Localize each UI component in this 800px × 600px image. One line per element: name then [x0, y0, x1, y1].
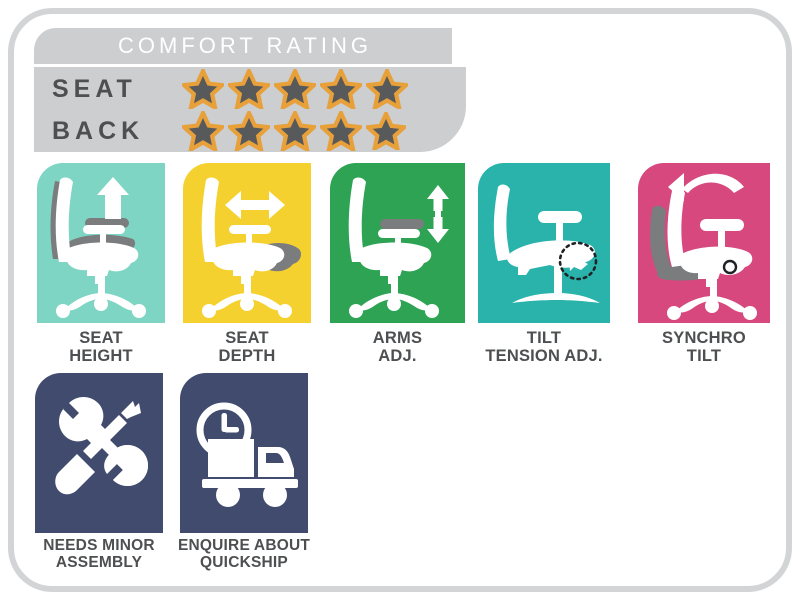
- chair-tilt-knob-icon: [478, 163, 610, 323]
- rating-label-seat: SEAT: [34, 77, 182, 102]
- comfort-rating-title: COMFORT RATING: [114, 35, 372, 57]
- rating-row-seat: SEAT: [34, 68, 466, 110]
- comfort-rating-header: COMFORT RATING: [34, 28, 452, 64]
- chair-left-right-arrow-icon: [183, 163, 311, 323]
- feature-tile-seat-height[interactable]: [37, 163, 165, 323]
- feature-tile-needs-minor-assembly[interactable]: [35, 373, 163, 533]
- rating-label-back: BACK: [34, 119, 182, 144]
- feature-tile-seat-depth[interactable]: [183, 163, 311, 323]
- rating-row-back: BACK: [34, 110, 466, 152]
- delivery-truck-clock-icon: [180, 373, 308, 533]
- star-icon: [320, 111, 362, 151]
- star-group-back: [182, 111, 406, 151]
- star-icon: [228, 111, 270, 151]
- wrench-screwdriver-icon: [35, 373, 163, 533]
- star-icon: [182, 111, 224, 151]
- star-group-seat: [182, 69, 408, 109]
- chair-up-arrow-icon: [37, 163, 165, 323]
- chair-recline-curved-arrow-icon: [638, 163, 770, 323]
- feature-caption-arms-adj: ARMS ADJ.: [330, 330, 465, 366]
- feature-caption-seat-depth: SEAT DEPTH: [183, 330, 311, 366]
- star-icon: [274, 111, 316, 151]
- star-icon: [274, 69, 316, 109]
- chair-armrest-updown-arrow-icon: [330, 163, 465, 323]
- feature-tile-arms-adj[interactable]: [330, 163, 465, 323]
- star-icon: [182, 69, 224, 109]
- feature-tile-synchro-tilt[interactable]: [638, 163, 770, 323]
- feature-caption-seat-height: SEAT HEIGHT: [37, 330, 165, 366]
- star-icon: [366, 112, 406, 150]
- feature-caption-enquire-about-quickship: ENQUIRE ABOUT QUICKSHIP: [166, 538, 322, 571]
- feature-tile-enquire-about-quickship[interactable]: [180, 373, 308, 533]
- star-icon: [228, 69, 270, 109]
- feature-caption-needs-minor-assembly: NEEDS MINOR ASSEMBLY: [21, 538, 177, 571]
- comfort-rating-panel: SEAT: [34, 67, 466, 152]
- comfort-rating-block: COMFORT RATING SEAT: [34, 28, 466, 152]
- feature-tile-tilt-tension-adj[interactable]: [478, 163, 610, 323]
- feature-caption-tilt-tension-adj: TILT TENSION ADJ.: [470, 330, 618, 366]
- chair-specification-card: COMFORT RATING SEAT: [0, 0, 800, 600]
- star-icon: [366, 69, 408, 109]
- feature-caption-synchro-tilt: SYNCHRO TILT: [638, 330, 770, 366]
- star-icon: [320, 69, 362, 109]
